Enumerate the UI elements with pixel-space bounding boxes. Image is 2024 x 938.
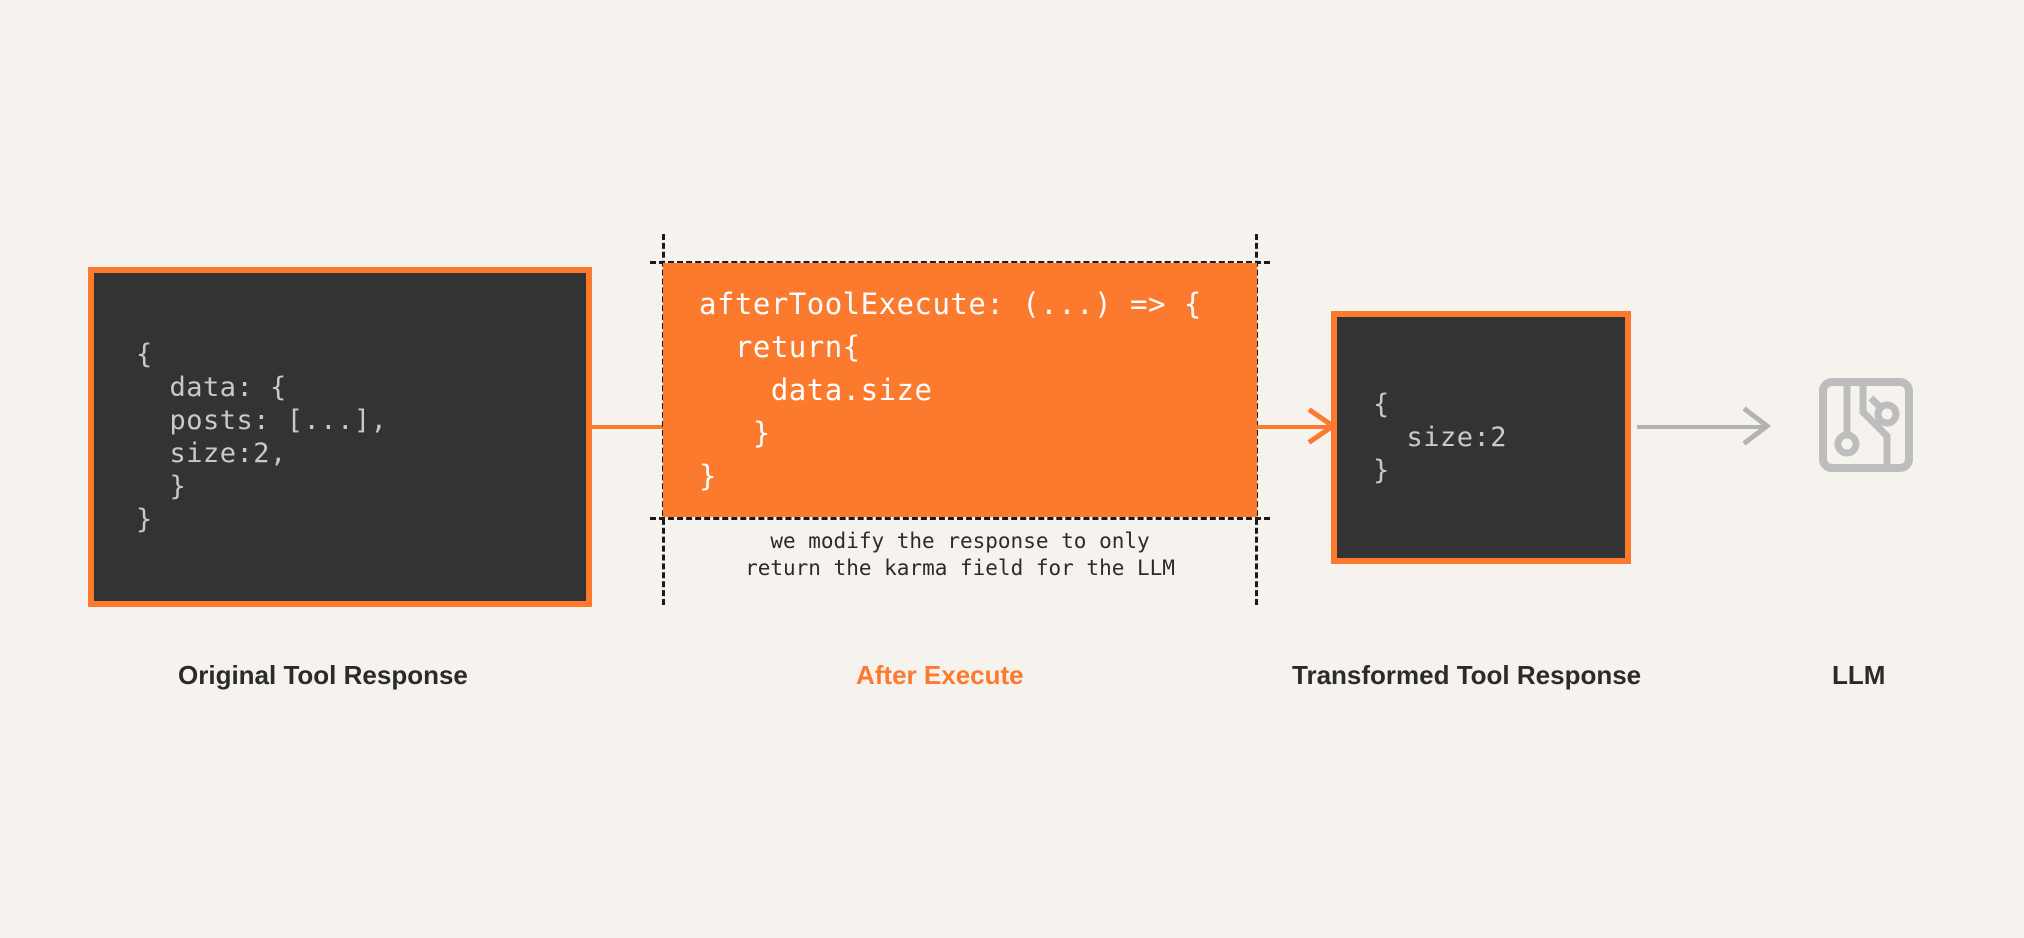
code-line: afterToolExecute: (...) => { [699,283,1257,326]
diagram-canvas: { data: { posts: [...], size:2, } } afte… [0,0,2024,938]
transformed-tool-response-box: { size:2 } [1331,311,1631,564]
transformed-code-block: { size:2 } [1337,388,1625,487]
code-line: return{ [699,326,1257,369]
code-line: posts: [...], [136,404,586,437]
caption-llm: LLM [1832,660,1885,691]
code-line: { [136,338,586,371]
code-line: data: { [136,371,586,404]
original-tool-response-box: { data: { posts: [...], size:2, } } [88,267,592,607]
code-line: } [136,470,586,503]
after-execute-note: we modify the response to only return th… [663,528,1257,582]
caption-after-execute: After Execute [856,660,1024,691]
note-line: return the karma field for the LLM [663,555,1257,582]
code-line: } [699,455,1257,498]
after-execute-code-block: afterToolExecute: (...) => { return{ dat… [663,283,1257,498]
code-line: size:2, [136,437,586,470]
code-line: { [1373,388,1625,421]
caption-original-tool-response: Original Tool Response [178,660,468,691]
code-line: } [136,503,586,536]
after-execute-box: afterToolExecute: (...) => { return{ dat… [663,263,1257,517]
arrow-head-icon [1743,406,1777,446]
connector-original-to-after [592,425,672,429]
code-line: } [1373,454,1625,487]
code-line: } [699,412,1257,455]
original-code-block: { data: { posts: [...], size:2, } } [94,338,586,536]
note-line: we modify the response to only [663,528,1257,555]
code-line: data.size [699,369,1257,412]
dashed-rule-bottom [650,517,1270,520]
code-line: size:2 [1373,421,1625,454]
circuit-chip-icon [1817,376,1915,474]
caption-transformed-tool-response: Transformed Tool Response [1292,660,1641,691]
